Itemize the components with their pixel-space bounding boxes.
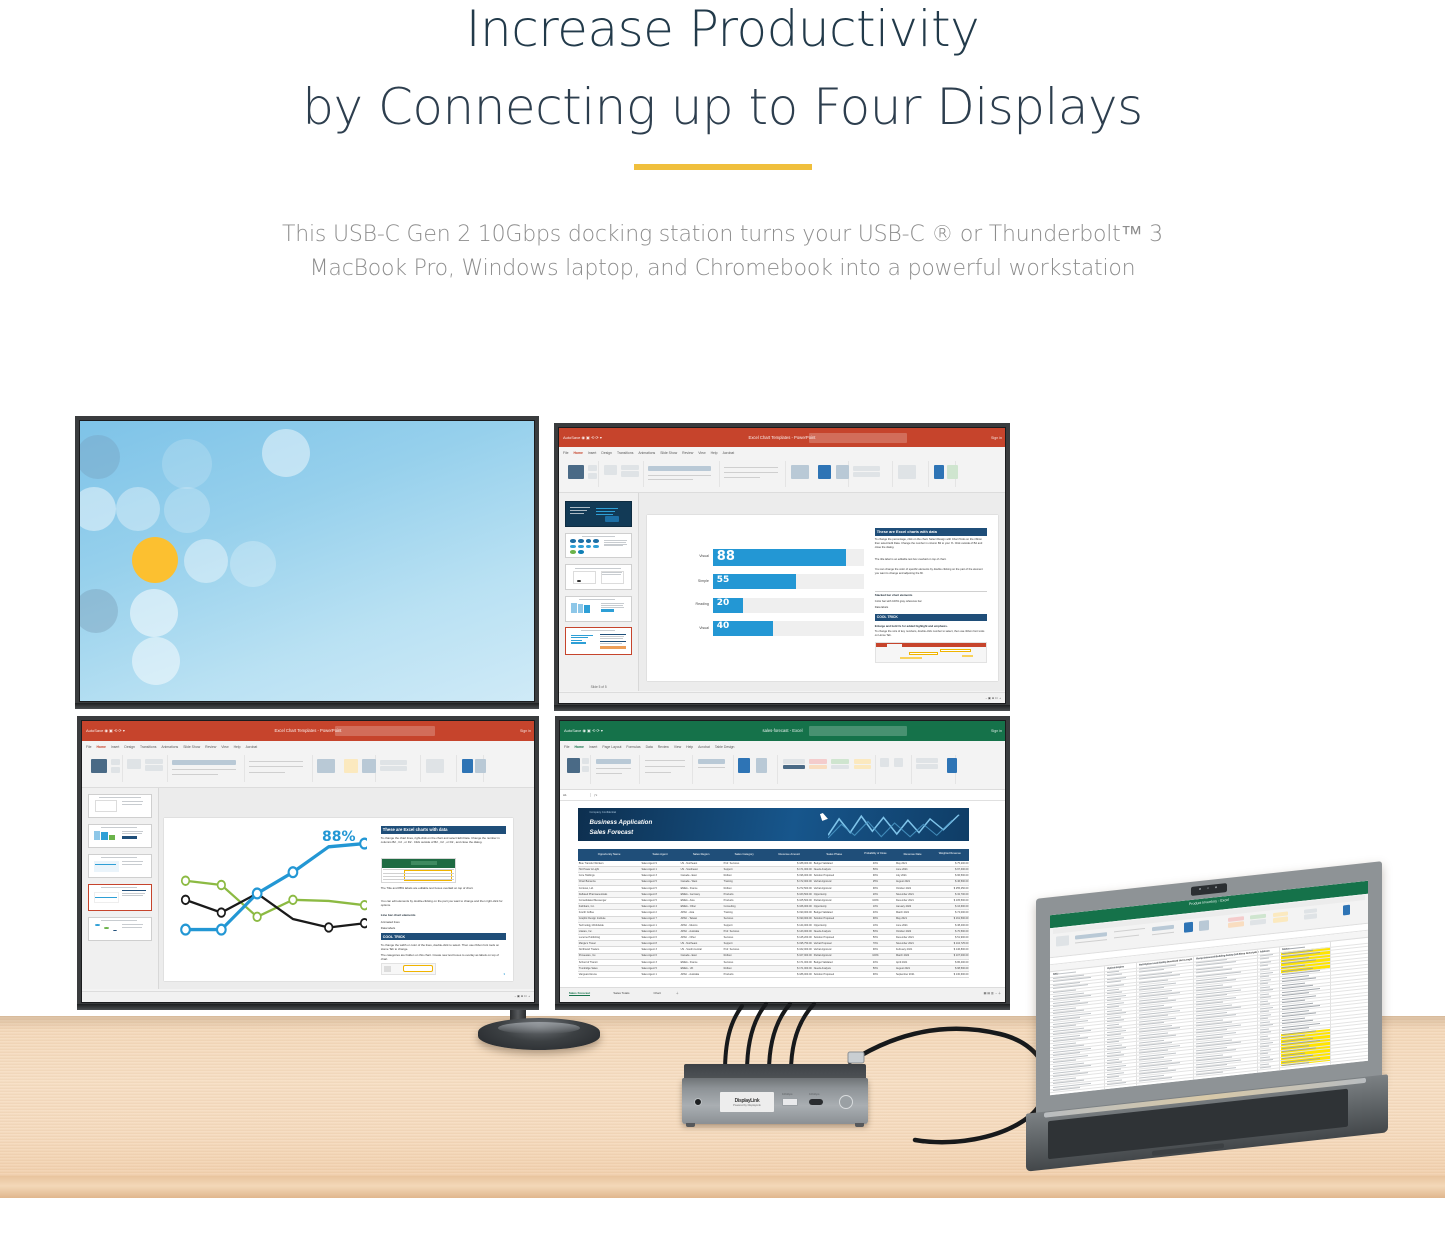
table-cell[interactable]: 20% xyxy=(856,893,895,896)
designer-button[interactable] xyxy=(934,465,945,478)
table-cell[interactable]: APAC - Other xyxy=(680,936,723,939)
tab-transitions[interactable]: Transitions xyxy=(617,451,633,455)
column-header[interactable]: Sales Region xyxy=(680,852,723,856)
font-selector[interactable] xyxy=(648,466,710,471)
table-cell[interactable]: Sales Agent 4 xyxy=(640,905,679,908)
zoom-controls[interactable]: ▦ ▤ ▥ − ＋ xyxy=(984,991,1001,995)
table-cell[interactable]: Litware, Inc. xyxy=(578,930,641,933)
zoom-controls[interactable]: − ▣ ⊞ ⊡ + xyxy=(514,994,530,998)
table-cell[interactable]: $ 130,600.00 xyxy=(930,973,969,976)
search-input[interactable] xyxy=(335,726,434,736)
fx-icon[interactable]: ƒx xyxy=(591,793,600,797)
tab-view[interactable]: View xyxy=(674,745,681,749)
table-cell[interactable]: 90% xyxy=(856,917,895,920)
tab-view[interactable]: View xyxy=(698,451,705,455)
tab-table-design[interactable]: Table Design xyxy=(715,745,735,749)
table-cell[interactable]: Canada - West xyxy=(680,880,723,883)
zoom-controls[interactable]: − ▣ ⊞ ⊡ + xyxy=(985,696,1001,700)
tab-help[interactable]: Help xyxy=(686,745,693,749)
table-cell[interactable]: $ 190,000.00 xyxy=(766,911,813,914)
table-cell[interactable]: Sales Agent 3 xyxy=(640,948,679,951)
table-cell[interactable]: School of Transit xyxy=(578,961,641,964)
table-cell[interactable]: Sales Agent 8 xyxy=(640,942,679,945)
table-cell[interactable]: Core Holdings xyxy=(578,874,641,877)
table-cell[interactable]: $ 146,800.00 xyxy=(930,948,969,951)
table-cell[interactable]: $ 255,250.00 xyxy=(930,887,969,890)
table-cell[interactable]: 50% xyxy=(856,930,895,933)
table-cell[interactable]: Rollout xyxy=(723,954,766,957)
table-cell[interactable]: Partial Approval xyxy=(813,954,856,957)
table-cell[interactable]: Products xyxy=(723,893,766,896)
bar-chart[interactable]: Visual 88 Simple 55 xyxy=(668,545,865,651)
table-cell[interactable]: Budget Validated xyxy=(813,862,856,865)
table-cell[interactable]: $ 107,000.00 xyxy=(930,954,969,957)
table-cell[interactable]: December 2021 xyxy=(895,936,930,939)
sheet-tab-sales-totals[interactable]: Sales Totals xyxy=(613,991,629,995)
slide-thumbnail[interactable] xyxy=(88,794,152,818)
table-cell[interactable]: Lucerne Publishing xyxy=(578,936,641,939)
table-cell[interactable]: $ 98,500.00 xyxy=(930,967,969,970)
table-body[interactable]: Blue Transfer WorkersSales Agent 9US - N… xyxy=(578,861,970,978)
new-slide-button[interactable] xyxy=(127,759,141,769)
table-cell[interactable]: Consulting xyxy=(723,905,766,908)
tab-animations[interactable]: Animations xyxy=(638,451,655,455)
slide-thumbnail[interactable] xyxy=(565,596,632,622)
table-cell[interactable]: $ 163,500.00 xyxy=(766,893,813,896)
table-cell[interactable]: Budget Validated xyxy=(813,911,856,914)
style-good[interactable] xyxy=(831,759,849,763)
table-cell[interactable]: $ 16,600.00 xyxy=(930,905,969,908)
ribbon[interactable] xyxy=(559,459,1005,493)
sheet-tab-chart[interactable]: Chart xyxy=(653,991,660,995)
table-cell[interactable]: May 2021 xyxy=(895,917,930,920)
table-cell[interactable]: Sales Agent 3 xyxy=(640,961,679,964)
table-cell[interactable]: February 2021 xyxy=(895,948,930,951)
addin-button[interactable] xyxy=(475,759,486,773)
search-input[interactable] xyxy=(809,726,907,736)
font-selector[interactable] xyxy=(596,759,632,764)
tab-review[interactable]: Review xyxy=(658,745,669,749)
account-area[interactable]: Sign in xyxy=(991,729,1002,733)
table-cell[interactable]: Prof. Services xyxy=(723,948,766,951)
table-cell[interactable]: $ 70,500.00 xyxy=(930,930,969,933)
docking-station[interactable]: DisplayLink Powered by DisplayLink 10Gbp… xyxy=(682,1064,868,1128)
table-cell[interactable]: June 2021 xyxy=(895,924,930,927)
tab-help[interactable]: Help xyxy=(711,451,718,455)
table-cell[interactable]: 40% xyxy=(856,961,895,964)
table-cell[interactable]: EMEA - Other xyxy=(680,905,723,908)
table-cell[interactable]: Sales Agent 8 xyxy=(640,893,679,896)
table-cell[interactable]: Support xyxy=(723,924,766,927)
arrange-button[interactable] xyxy=(818,465,831,478)
table-cell[interactable]: Sales Agent 6 xyxy=(640,954,679,957)
laptop[interactable]: Product Inventory - Excel xyxy=(1022,866,1394,1186)
table-cell[interactable]: July 2021 xyxy=(895,874,930,877)
table-cell[interactable]: Vanguard Arena xyxy=(578,973,641,976)
table-cell[interactable]: US - South-Central xyxy=(680,948,723,951)
audio-jack-icon[interactable] xyxy=(694,1098,702,1106)
slide-thumbnail[interactable] xyxy=(565,564,632,590)
table-cell[interactable]: Technology Worldwide xyxy=(578,924,641,927)
table-cell[interactable]: $ 190,000.00 xyxy=(766,917,813,920)
table-cell[interactable]: Needs Analysis xyxy=(813,967,856,970)
usb-c-port[interactable] xyxy=(809,1099,823,1105)
table-cell[interactable]: Sales Agent 5 xyxy=(640,967,679,970)
quick-styles-button[interactable] xyxy=(362,759,376,773)
tab-file[interactable]: File xyxy=(564,745,569,749)
table-cell[interactable]: 70% xyxy=(856,942,895,945)
table-cell[interactable]: $ 46,500.00 xyxy=(930,880,969,883)
table-cell[interactable]: Training xyxy=(723,911,766,914)
table-cell[interactable]: Rollout xyxy=(723,967,766,970)
table-cell[interactable]: Northwind Traders xyxy=(578,948,641,951)
table-cell[interactable]: $ 75,200.00 xyxy=(930,862,969,865)
panel-paragraph-2: The Title and 88% labels are editable te… xyxy=(381,886,507,890)
tab-review[interactable]: Review xyxy=(205,745,216,749)
quick-styles-button[interactable] xyxy=(836,465,849,478)
table-cell[interactable]: EMEA - UK xyxy=(680,967,723,970)
ideas-button[interactable] xyxy=(947,758,957,773)
ribbon-tabs[interactable]: File Home Insert Design Transitions Anim… xyxy=(82,741,534,753)
bar-category-label: Visual xyxy=(668,554,709,558)
style-neutral[interactable] xyxy=(809,765,827,769)
table-cell[interactable]: APAC - Taiwan xyxy=(680,917,723,920)
formula-bar[interactable]: A1 ƒx xyxy=(560,790,1005,800)
tab-animations[interactable]: Animations xyxy=(161,745,178,749)
table-cell[interactable]: APAC - Mexico xyxy=(680,924,723,927)
column-header[interactable]: Revenue Amount xyxy=(766,852,813,856)
table-cell[interactable]: October 2022 xyxy=(895,930,930,933)
tab-slideshow[interactable]: Slide Show xyxy=(660,451,677,455)
table-cell[interactable]: Sales Agent 5 xyxy=(640,880,679,883)
table-cell[interactable]: Trunkridge Sales xyxy=(578,967,641,970)
table-cell[interactable]: Verbal Approval xyxy=(813,948,856,951)
table-cell[interactable]: $ 171,000.00 xyxy=(766,967,813,970)
tab-help[interactable]: Help xyxy=(234,745,241,749)
style-normal[interactable] xyxy=(783,759,805,763)
window-title: Excel Chart Templates - PowerPoint xyxy=(275,728,342,733)
table-cell[interactable]: Graphic Design Institute xyxy=(578,917,641,920)
tab-view[interactable]: View xyxy=(221,745,228,749)
table-cell[interactable]: Opportunity xyxy=(813,905,856,908)
shapes-gallery[interactable] xyxy=(317,759,335,773)
table-cell[interactable]: Sales Agent 2 xyxy=(640,930,679,933)
tab-home[interactable]: Home xyxy=(573,451,582,455)
ribbon-tabs[interactable]: File Home Insert Design Transitions Anim… xyxy=(559,447,1005,459)
tab-home[interactable]: Home xyxy=(574,745,583,749)
table-cell[interactable]: 10% xyxy=(856,905,895,908)
table-cell[interactable]: November 2021 xyxy=(895,893,930,896)
slide-thumbnail-selected[interactable] xyxy=(88,884,152,910)
table-cell[interactable]: Hot Power & Light xyxy=(578,868,641,871)
table-cell[interactable]: Verbal Approval xyxy=(813,880,856,883)
tab-data[interactable]: Data xyxy=(646,745,653,749)
table-cell[interactable]: Needs Analysis xyxy=(813,930,856,933)
slide-thumbnail[interactable] xyxy=(565,533,632,559)
table-cell[interactable]: US - Southeast xyxy=(680,868,723,871)
table-cell[interactable]: Sales Agent 9 xyxy=(640,862,679,865)
arrange-button[interactable] xyxy=(344,759,358,773)
table-cell[interactable]: 50% xyxy=(856,967,895,970)
tab-acrobat[interactable]: Acrobat xyxy=(723,451,735,455)
paste-button[interactable] xyxy=(91,759,107,773)
table-cell[interactable]: Verbal Proposal xyxy=(813,942,856,945)
designer-button[interactable] xyxy=(462,759,473,773)
table-cell[interactable]: Opportunity xyxy=(813,924,856,927)
format-as-table-button[interactable] xyxy=(756,758,768,773)
table-cell[interactable]: $ 188,000.00 xyxy=(766,862,813,865)
table-row[interactable]: Vanguard ArenaSales Agent 1APAC - Austra… xyxy=(578,972,970,978)
laptop-screen[interactable]: Product Inventory - Excel xyxy=(1050,881,1368,1096)
tab-insert[interactable]: Insert xyxy=(111,745,119,749)
table-cell[interactable]: Canada - East xyxy=(680,954,723,957)
table-cell[interactable]: Verbal Approval xyxy=(813,887,856,890)
table-cell[interactable]: EMEA - France xyxy=(680,887,723,890)
table-cell[interactable]: $ 171,000.00 xyxy=(766,961,813,964)
table-cell[interactable]: $ 272,500.00 xyxy=(766,887,813,890)
table-cell[interactable]: $ 143,000.00 xyxy=(766,930,813,933)
table-cell[interactable]: 90% xyxy=(856,973,895,976)
ribbon[interactable] xyxy=(560,752,1005,790)
table-cell[interactable]: August 2021 xyxy=(895,880,930,883)
table-cell[interactable]: Consolidated Messenger xyxy=(578,899,641,902)
table-cell[interactable]: Contoso, Ltd. xyxy=(578,887,641,890)
table-cell[interactable]: $ 104,725.00 xyxy=(930,942,969,945)
dictate-button[interactable] xyxy=(898,465,916,478)
search-input[interactable] xyxy=(809,433,907,443)
excel-grid[interactable]: Company Confidential Business Applicatio… xyxy=(560,801,1005,987)
table-cell[interactable]: $ 172,000.00 xyxy=(766,880,813,883)
table-cell[interactable]: Sales Agent 6 xyxy=(640,936,679,939)
style-warning[interactable] xyxy=(854,759,872,763)
slide-canvas[interactable]: 88% These are Excel charts with data To … xyxy=(164,818,513,981)
slide-thumbnail[interactable] xyxy=(88,824,152,848)
table-cell[interactable]: Sales Agent 1 xyxy=(640,924,679,927)
account-area[interactable]: Sign in xyxy=(991,436,1002,440)
slide-thumbnail-pane[interactable] xyxy=(82,788,159,990)
slide-canvas[interactable]: Visual 88 Simple 55 xyxy=(647,515,998,681)
table-cell[interactable]: 10% xyxy=(856,924,895,927)
tab-formulas[interactable]: Formulas xyxy=(626,745,640,749)
table-cell[interactable]: 100% xyxy=(856,954,895,957)
table-cell[interactable]: $ 196,000.00 xyxy=(766,874,813,877)
table-cell[interactable]: Solution Proposed xyxy=(813,936,856,939)
tab-insert[interactable]: Insert xyxy=(588,451,596,455)
table-cell[interactable]: APAC - Australia xyxy=(680,973,723,976)
table-cell[interactable]: Rollout xyxy=(723,874,766,877)
ribbon-tabs[interactable]: File Home Insert Page Layout Formulas Da… xyxy=(560,741,1005,753)
table-cell[interactable]: Services xyxy=(723,917,766,920)
table-cell[interactable]: $ 161,500.00 xyxy=(930,917,969,920)
tab-insert[interactable]: Insert xyxy=(589,745,597,749)
quick-access-toolbar[interactable]: AutoSave ◉ ▣ ⟲ ⟳ ▾ xyxy=(82,728,125,733)
column-header[interactable]: Probability of Close xyxy=(856,852,895,855)
table-cell[interactable]: Fabrikam, Inc. xyxy=(578,905,641,908)
autosum-button[interactable] xyxy=(916,758,938,762)
number-format-selector[interactable] xyxy=(698,759,725,764)
table-cell[interactable]: Support xyxy=(723,868,766,871)
table-cell[interactable]: US - Northeast xyxy=(680,862,723,865)
table-cell[interactable]: Training xyxy=(723,880,766,883)
ribbon[interactable] xyxy=(82,752,534,787)
column-header[interactable]: Sales Category xyxy=(723,852,766,856)
tab-review[interactable]: Review xyxy=(682,451,693,455)
table-cell[interactable]: 90% xyxy=(856,874,895,877)
quick-access-toolbar[interactable]: AutoSave ◉ ▣ ⟲ ⟳ ▾ xyxy=(560,728,603,733)
tab-design[interactable]: Design xyxy=(601,451,612,455)
table-cell[interactable]: Sales Agent 7 xyxy=(640,917,679,920)
table-cell[interactable]: Support xyxy=(723,942,766,945)
table-cell[interactable]: Sales Agent 3 xyxy=(640,874,679,877)
new-slide-button[interactable] xyxy=(604,465,617,475)
table-cell[interactable]: Services xyxy=(723,936,766,939)
table-cell[interactable]: $ 105,500.00 xyxy=(930,899,969,902)
column-header[interactable]: Weighted Revenue xyxy=(930,852,969,855)
table-cell[interactable]: 90% xyxy=(856,887,895,890)
column-header[interactable]: Sales Agent xyxy=(640,852,679,856)
line-chart[interactable]: 88% xyxy=(178,834,366,961)
table-cell[interactable]: US - Northeast xyxy=(680,942,723,945)
table-cell[interactable]: $ 186,000.00 xyxy=(766,973,813,976)
tab-home[interactable]: Home xyxy=(96,745,105,749)
table-cell[interactable]: 90% xyxy=(856,948,895,951)
table-cell[interactable]: December 2021 xyxy=(895,899,930,902)
table-cell[interactable]: Budget Validated xyxy=(813,961,856,964)
table-cell[interactable]: $ 166,000.00 xyxy=(766,905,813,908)
table-cell[interactable]: 50% xyxy=(856,936,895,939)
table-cell[interactable]: EMEA - Asia xyxy=(680,899,723,902)
table-cell[interactable]: APAC - Asia xyxy=(680,911,723,914)
quick-access-toolbar[interactable]: AutoSave ◉ ▣ ⟲ ⟳ ▾ xyxy=(559,435,602,440)
table-cell[interactable]: Fourth Coffee xyxy=(578,911,641,914)
table-cell[interactable]: Sales Agent 1 xyxy=(640,973,679,976)
tab-page-layout[interactable]: Page Layout xyxy=(602,745,621,749)
paste-button[interactable] xyxy=(568,465,584,479)
table-cell[interactable]: $ 195,750.00 xyxy=(766,942,813,945)
table-cell[interactable]: Prof. Services xyxy=(723,930,766,933)
conditional-formatting-button[interactable] xyxy=(738,758,750,773)
table-cell[interactable]: May 2021 xyxy=(895,862,930,865)
table-cell[interactable]: $ 32,700.00 xyxy=(930,893,969,896)
column-header[interactable]: Revenue Date xyxy=(895,852,930,856)
add-sheet-button[interactable]: ＋ xyxy=(676,991,679,995)
table-cell[interactable]: $ 105,500.00 xyxy=(766,899,813,902)
table-cell[interactable]: Sales Agent 2 xyxy=(640,911,679,914)
column-header[interactable]: Sales Phase xyxy=(813,852,856,856)
tab-transitions[interactable]: Transitions xyxy=(140,745,156,749)
fill-button[interactable] xyxy=(916,764,938,768)
table-cell[interactable]: Margie's Travel xyxy=(578,942,641,945)
table-cell[interactable]: Sales Agent 5 xyxy=(640,899,679,902)
table-cell[interactable]: Solution Proposed xyxy=(813,874,856,877)
table-cell[interactable]: APAC - Australia xyxy=(680,930,723,933)
table-cell[interactable]: $ 107,000.00 xyxy=(766,954,813,957)
table-cell[interactable]: October 2021 xyxy=(895,887,930,890)
style-selected[interactable] xyxy=(783,765,805,769)
table-cell[interactable]: 40% xyxy=(856,862,895,865)
table-cell[interactable]: Blue Transfer Workers xyxy=(578,862,641,865)
table-cell[interactable]: Needs Analysis xyxy=(813,868,856,871)
table-cell[interactable]: $ 38,400.00 xyxy=(930,924,969,927)
dictate-button[interactable] xyxy=(426,759,444,773)
power-button[interactable] xyxy=(839,1095,853,1109)
tab-acrobat[interactable]: Acrobat xyxy=(698,745,710,749)
table-cell[interactable]: Sales Agent 1 xyxy=(640,868,679,871)
column-header[interactable]: Opportunity Name xyxy=(578,852,641,856)
account-area[interactable]: Sign in xyxy=(520,729,531,733)
table-cell[interactable]: January 2022 xyxy=(895,905,930,908)
table-cell[interactable]: $ 51,900.00 xyxy=(930,936,969,939)
table-cell[interactable]: Prof. Services xyxy=(723,862,766,865)
table-cell[interactable]: $ 171,000.00 xyxy=(766,868,813,871)
table-cell[interactable]: EMEA - France xyxy=(680,961,723,964)
table-cell[interactable]: Sales Agent 5 xyxy=(640,887,679,890)
table-cell[interactable]: Solution Proposed xyxy=(813,973,856,976)
table-cell[interactable]: Rollout xyxy=(723,887,766,890)
tab-file[interactable]: File xyxy=(563,451,568,455)
table-cell[interactable]: Partial Approval xyxy=(813,899,856,902)
slide-thumbnail[interactable] xyxy=(88,854,152,878)
table-cell[interactable]: 50% xyxy=(856,868,895,871)
table-cell[interactable]: Proseware, Inc. xyxy=(578,954,641,957)
table-cell[interactable]: August 2021 xyxy=(895,967,930,970)
table-cell[interactable]: 100% xyxy=(856,899,895,902)
usb-a-port[interactable] xyxy=(782,1098,798,1106)
slide-thumbnail[interactable] xyxy=(565,501,632,527)
table-cell[interactable]: Products xyxy=(723,973,766,976)
table-cell[interactable]: EMEA - Germany xyxy=(680,893,723,896)
tab-file[interactable]: File xyxy=(86,745,91,749)
table-cell[interactable]: Chart Bonanza xyxy=(578,880,641,883)
name-box[interactable]: A1 xyxy=(560,793,591,797)
table-cell[interactable]: March 2021 xyxy=(895,911,930,914)
shapes-gallery[interactable] xyxy=(791,465,809,478)
slide-thumbnail-selected[interactable] xyxy=(565,627,632,655)
table-cell[interactable]: Products xyxy=(723,899,766,902)
table-cell[interactable]: 25% xyxy=(856,880,895,883)
powerpoint-window-line: AutoSave ◉ ▣ ⟲ ⟳ ▾ Excel Chart Templates… xyxy=(82,721,534,1002)
table-cell[interactable]: $ 162,000.00 xyxy=(766,948,813,951)
table-cell[interactable]: March 2022 xyxy=(895,954,930,957)
tab-slideshow[interactable]: Slide Show xyxy=(183,745,200,749)
table-cell[interactable]: $ 144,000.00 xyxy=(766,924,813,927)
table-cell[interactable]: Canada - East xyxy=(680,874,723,877)
font-selector[interactable] xyxy=(172,760,235,765)
table-cell[interactable]: June 2021 xyxy=(895,868,930,871)
table-cell[interactable]: $ 74,000.00 xyxy=(930,911,969,914)
table-cell[interactable]: Deflated Pharmaceuticals xyxy=(578,893,641,896)
slide-thumbnail[interactable] xyxy=(88,917,152,941)
tab-design[interactable]: Design xyxy=(124,745,135,749)
table-cell[interactable]: Opportunity xyxy=(813,893,856,896)
paste-button[interactable] xyxy=(567,758,580,773)
style-bad[interactable] xyxy=(809,759,827,763)
slide-thumbnail-pane[interactable]: Slide 5 of 5 xyxy=(559,493,639,690)
table-cell[interactable]: September 2021 xyxy=(895,973,930,976)
tab-acrobat[interactable]: Acrobat xyxy=(246,745,258,749)
table-cell[interactable]: Services xyxy=(723,961,766,964)
table-cell[interactable]: April 2021 xyxy=(895,961,930,964)
table-cell[interactable]: $ 86,400.00 xyxy=(930,961,969,964)
table-cell[interactable]: Solution Proposed xyxy=(813,917,856,920)
table-cell[interactable]: $ 96,500.00 xyxy=(930,874,969,877)
sheet-tab-sales-forecast[interactable]: Sales Forecast xyxy=(569,991,590,996)
table-cell[interactable]: 40% xyxy=(856,911,895,914)
table-cell[interactable]: $ 145,200.00 xyxy=(766,936,813,939)
table-cell[interactable]: $ 97,300.00 xyxy=(930,868,969,871)
addin-button[interactable] xyxy=(947,465,958,478)
table-cell[interactable]: November 2021 xyxy=(895,942,930,945)
